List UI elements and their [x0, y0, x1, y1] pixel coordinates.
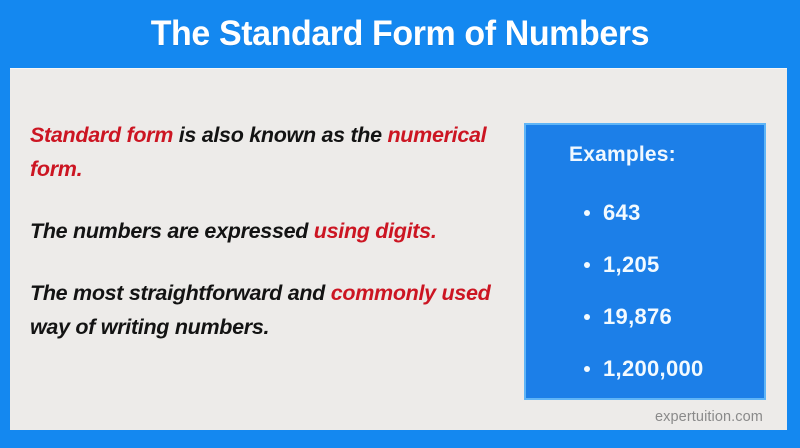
bullet-icon — [584, 314, 590, 320]
list-item: 1,200,000 — [584, 343, 704, 395]
example-value: 1,205 — [603, 252, 660, 278]
paragraph-2-highlight-using-digits: using digits. — [314, 219, 437, 243]
paragraph-3-text-lead: The most straightforward and — [30, 281, 331, 305]
slide-canvas: The Standard Form of Numbers Standard fo… — [0, 0, 800, 448]
example-value: 19,876 — [603, 304, 672, 330]
examples-heading: Examples: — [569, 143, 676, 167]
bullet-icon — [584, 210, 590, 216]
paragraph-3-text-tail: way of writing numbers. — [30, 315, 269, 339]
example-value: 643 — [603, 200, 641, 226]
paragraph-1-highlight-standard-form: Standard form — [30, 123, 173, 147]
footer-watermark: expertuition.com — [655, 409, 763, 425]
paragraph-straightforward: The most straightforward and commonly us… — [30, 276, 510, 344]
paragraph-1-text-middle: is also known as the — [173, 123, 387, 147]
text-column: Standard form is also known as the numer… — [30, 118, 510, 344]
list-item: 643 — [584, 187, 704, 239]
paragraph-definition: Standard form is also known as the numer… — [30, 118, 510, 186]
bullet-icon — [584, 366, 590, 372]
page-title: The Standard Form of Numbers — [151, 16, 649, 51]
examples-list: 643 1,205 19,876 1,200,000 — [584, 187, 704, 395]
list-item: 1,205 — [584, 239, 704, 291]
example-value: 1,200,000 — [603, 356, 704, 382]
content-panel: Standard form is also known as the numer… — [10, 68, 787, 430]
header-band: The Standard Form of Numbers — [0, 0, 800, 66]
bullet-icon — [584, 262, 590, 268]
list-item: 19,876 — [584, 291, 704, 343]
paragraph-expressed: The numbers are expressed using digits. — [30, 214, 510, 248]
examples-box: Examples: 643 1,205 19,876 1,200,000 — [524, 123, 766, 400]
paragraph-3-highlight-commonly-used: commonly used — [331, 281, 491, 305]
paragraph-2-text-lead: The numbers are expressed — [30, 219, 314, 243]
